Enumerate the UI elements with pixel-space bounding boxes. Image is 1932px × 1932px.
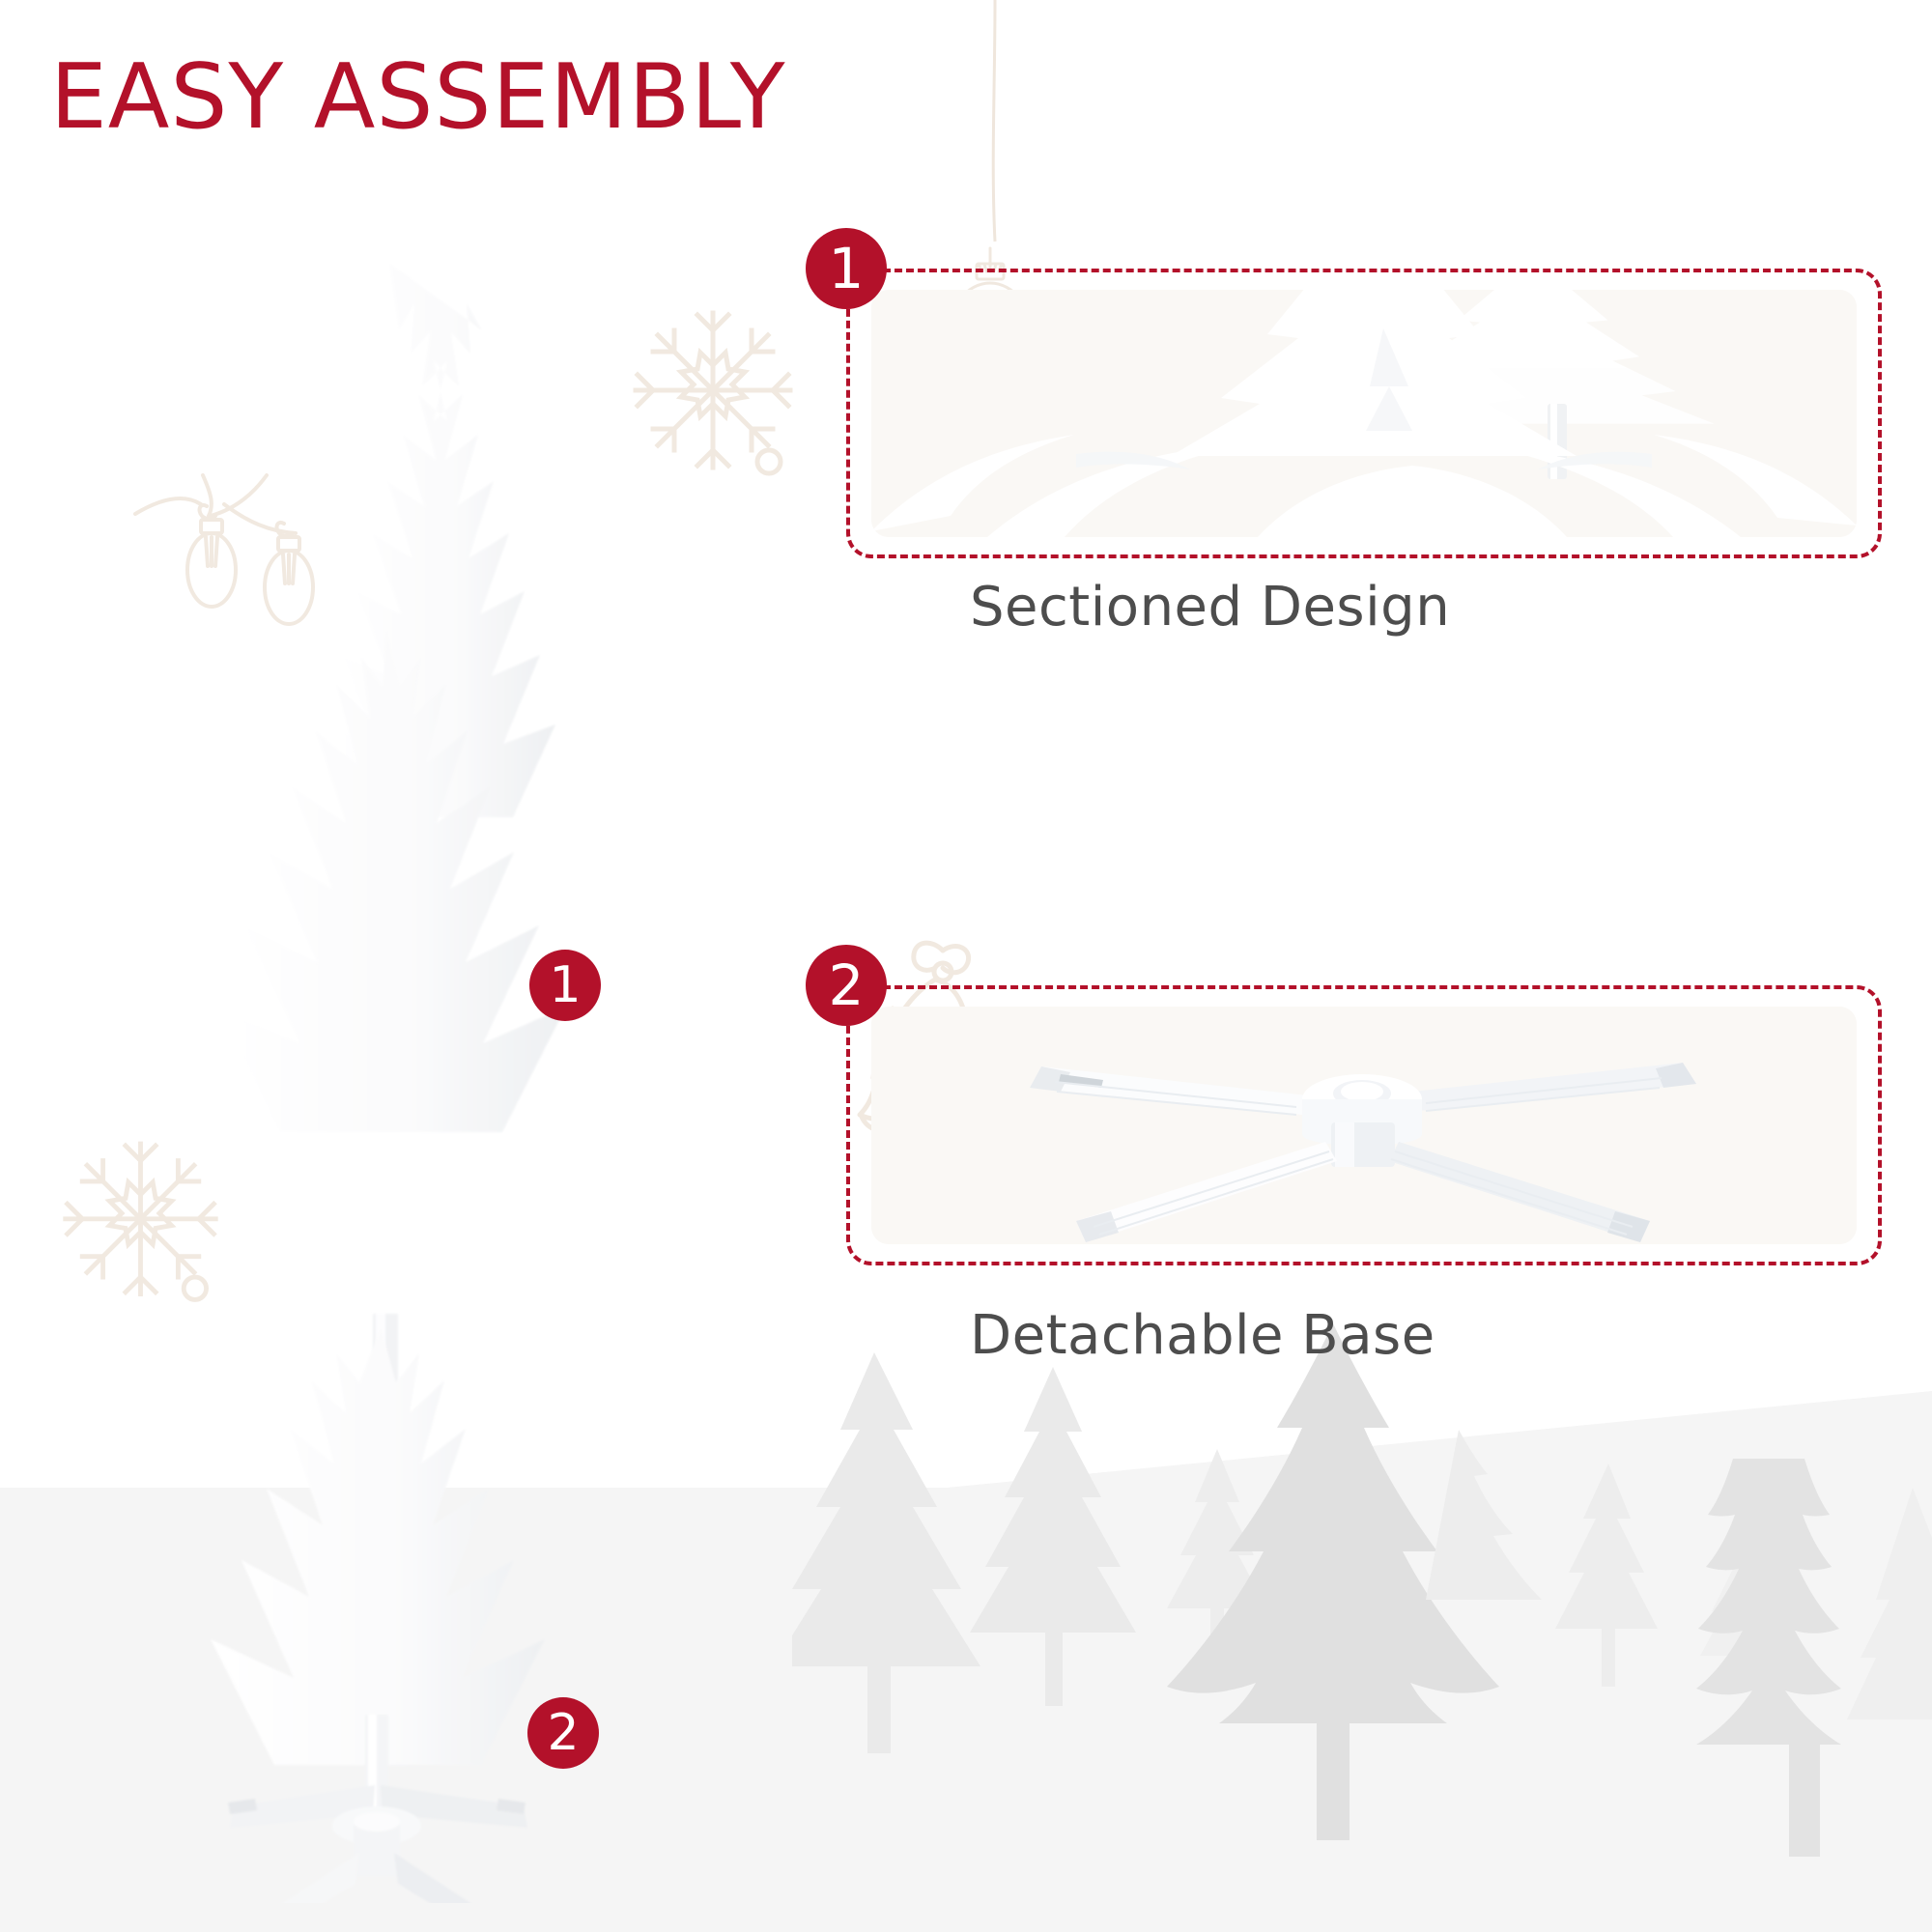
string-lights-icon xyxy=(106,464,319,657)
callout-1-photo xyxy=(871,290,1857,537)
hero-badge-2-label: 2 xyxy=(547,1708,579,1758)
callout-2-caption: Detachable Base xyxy=(970,1304,1435,1367)
hero-badge-1-label: 1 xyxy=(549,960,581,1010)
snowflake-icon xyxy=(56,1140,225,1319)
callout-card-detachable-base: 2 xyxy=(846,985,1882,1265)
infographic-canvas: EASY ASSEMBLY xyxy=(0,0,1932,1932)
hero-badge-1: 1 xyxy=(529,950,601,1021)
callout-2-badge-label: 2 xyxy=(829,957,865,1013)
callout-1-caption: Sectioned Design xyxy=(970,576,1450,639)
tree-section-middle xyxy=(216,628,566,1389)
tree-section-top xyxy=(326,263,555,879)
callout-1-badge: 1 xyxy=(806,228,887,309)
hero-badge-2: 2 xyxy=(527,1697,599,1769)
callout-2-photo xyxy=(871,1007,1857,1244)
callout-2-badge: 2 xyxy=(806,945,887,1026)
page-title: EASY ASSEMBLY xyxy=(50,50,786,145)
snowflake-icon xyxy=(626,309,800,493)
callout-card-sectioned-design: 1 xyxy=(846,269,1882,558)
ground-shape-icon xyxy=(0,1352,1932,1932)
ornament-hanging-thread xyxy=(966,0,1024,280)
snow-ground-slope xyxy=(0,1352,1932,1932)
callout-1-badge-label: 1 xyxy=(829,241,865,297)
